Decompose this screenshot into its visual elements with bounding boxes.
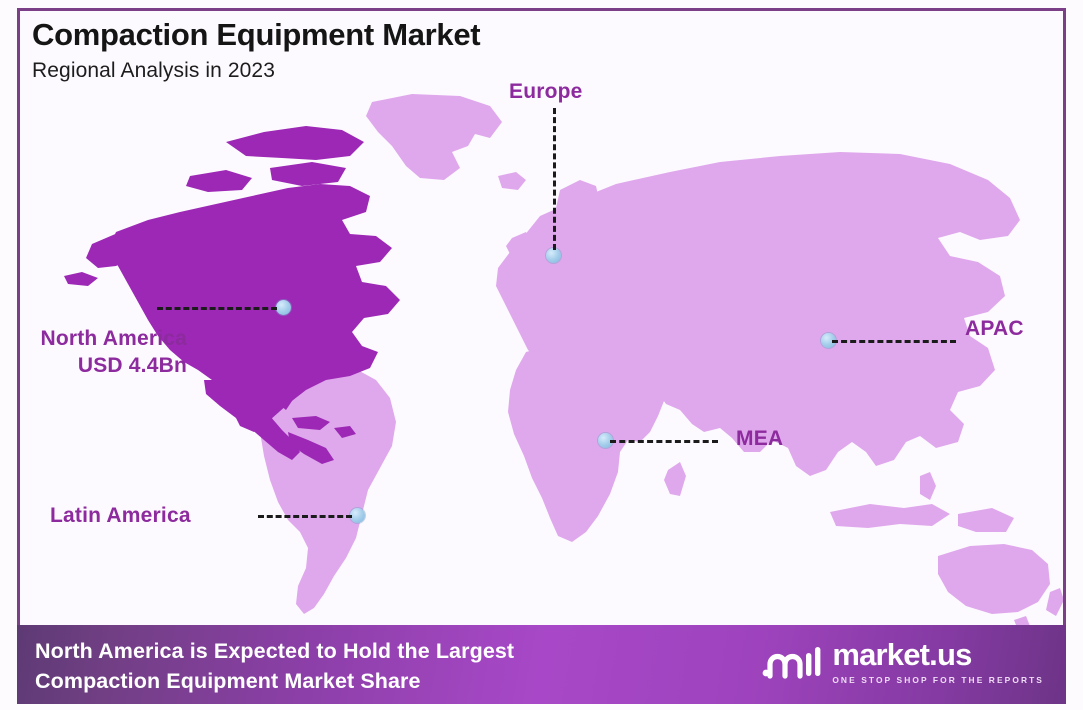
region-tasmania [1014, 616, 1030, 625]
region-canada-arctic-b [270, 162, 346, 186]
page-subtitle: Regional Analysis in 2023 [32, 59, 480, 83]
leader-line-latin-america [258, 515, 352, 518]
label-latin-america[interactable]: Latin America [50, 504, 191, 528]
logo-tagline: ONE STOP SHOP FOR THE REPORTS [832, 675, 1044, 685]
label-mea[interactable]: MEA [736, 427, 783, 451]
marker-dot-north-america[interactable] [276, 300, 291, 315]
leader-line-mea [610, 440, 718, 443]
bottom-banner: North America is Expected to Hold the La… [17, 625, 1066, 704]
logo-name: market.us [832, 639, 1044, 670]
logo-bar-2 [815, 647, 820, 676]
banner-headline-line1: North America is Expected to Hold the La… [35, 637, 514, 667]
region-canada-arctic-c [186, 170, 252, 192]
leader-line-north-america [157, 307, 277, 310]
region-australia [938, 544, 1050, 614]
label-north-america[interactable]: North America USD 4.4Bn [27, 326, 187, 380]
marker-dot-europe[interactable] [546, 248, 561, 263]
marker-dot-latin-america[interactable] [350, 508, 365, 523]
region-aleutians [64, 272, 98, 286]
logo-wordmark: market.us ONE STOP SHOP FOR THE REPORTS [832, 639, 1044, 685]
region-canada-arctic-a [226, 126, 364, 160]
region-new-zealand [1046, 588, 1063, 616]
region-iceland [498, 172, 526, 190]
market-us-logo-icon [759, 640, 821, 684]
infographic-canvas: North America USD 4.4Bn Europe APAC MEA … [0, 0, 1083, 710]
region-madagascar [664, 462, 686, 496]
region-philippines [920, 472, 936, 500]
region-indonesia [830, 504, 950, 528]
label-north-america-name: North America [27, 326, 187, 353]
label-north-america-value: USD 4.4Bn [27, 353, 187, 380]
leader-line-apac [832, 340, 956, 343]
label-apac[interactable]: APAC [965, 317, 1024, 341]
banner-headline: North America is Expected to Hold the La… [35, 637, 514, 696]
banner-headline-line2: Compaction Equipment Market Share [35, 667, 514, 697]
brand-logo[interactable]: market.us ONE STOP SHOP FOR THE REPORTS [759, 639, 1044, 685]
region-greenland [366, 94, 502, 180]
logo-bar-1 [806, 653, 811, 676]
header: Compaction Equipment Market Regional Ana… [32, 18, 480, 83]
page-title: Compaction Equipment Market [32, 18, 480, 53]
region-new-guinea [958, 508, 1014, 532]
leader-line-europe [553, 108, 556, 250]
logo-dot [763, 670, 770, 677]
label-europe[interactable]: Europe [509, 80, 583, 104]
